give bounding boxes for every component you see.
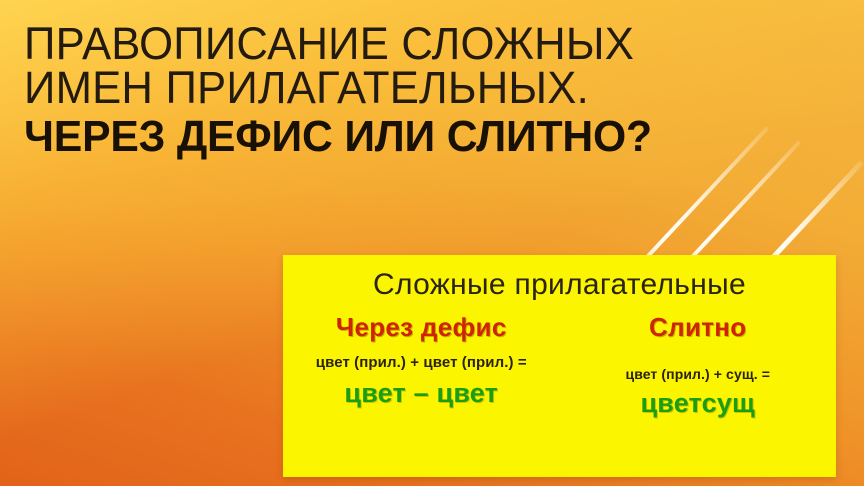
info-panel: Сложные прилагательные Через дефис цвет …	[283, 255, 836, 477]
panel-heading: Сложные прилагательные	[283, 255, 836, 302]
title-line-2: ИМЕН ПРИЛАГАТЕЛЬНЫХ.	[24, 66, 781, 110]
column-solid-heading: Слитно	[566, 312, 831, 343]
column-hyphenated-formula: цвет (прил.) + цвет (прил.) =	[289, 354, 554, 371]
column-solid-formula: цвет (прил.) + сущ. =	[566, 366, 831, 382]
slide: ПРАВОПИСАНИЕ СЛОЖНЫХ ИМЕН ПРИЛАГАТЕЛЬНЫХ…	[0, 0, 864, 486]
slide-title: ПРАВОПИСАНИЕ СЛОЖНЫХ ИМЕН ПРИЛАГАТЕЛЬНЫХ…	[24, 22, 804, 159]
column-hyphenated-result: цвет – цвет	[289, 378, 554, 409]
title-line-3: ЧЕРЕЗ ДЕФИС ИЛИ СЛИТНО?	[24, 116, 781, 159]
column-hyphenated: Через дефис цвет (прил.) + цвет (прил.) …	[283, 312, 560, 419]
title-line-1: ПРАВОПИСАНИЕ СЛОЖНЫХ	[24, 22, 781, 66]
panel-columns: Через дефис цвет (прил.) + цвет (прил.) …	[283, 312, 836, 419]
column-hyphenated-heading: Через дефис	[289, 312, 554, 343]
column-solid-result: цветсущ	[566, 388, 831, 419]
column-solid: Слитно цвет (прил.) + сущ. = цветсущ	[560, 312, 837, 419]
